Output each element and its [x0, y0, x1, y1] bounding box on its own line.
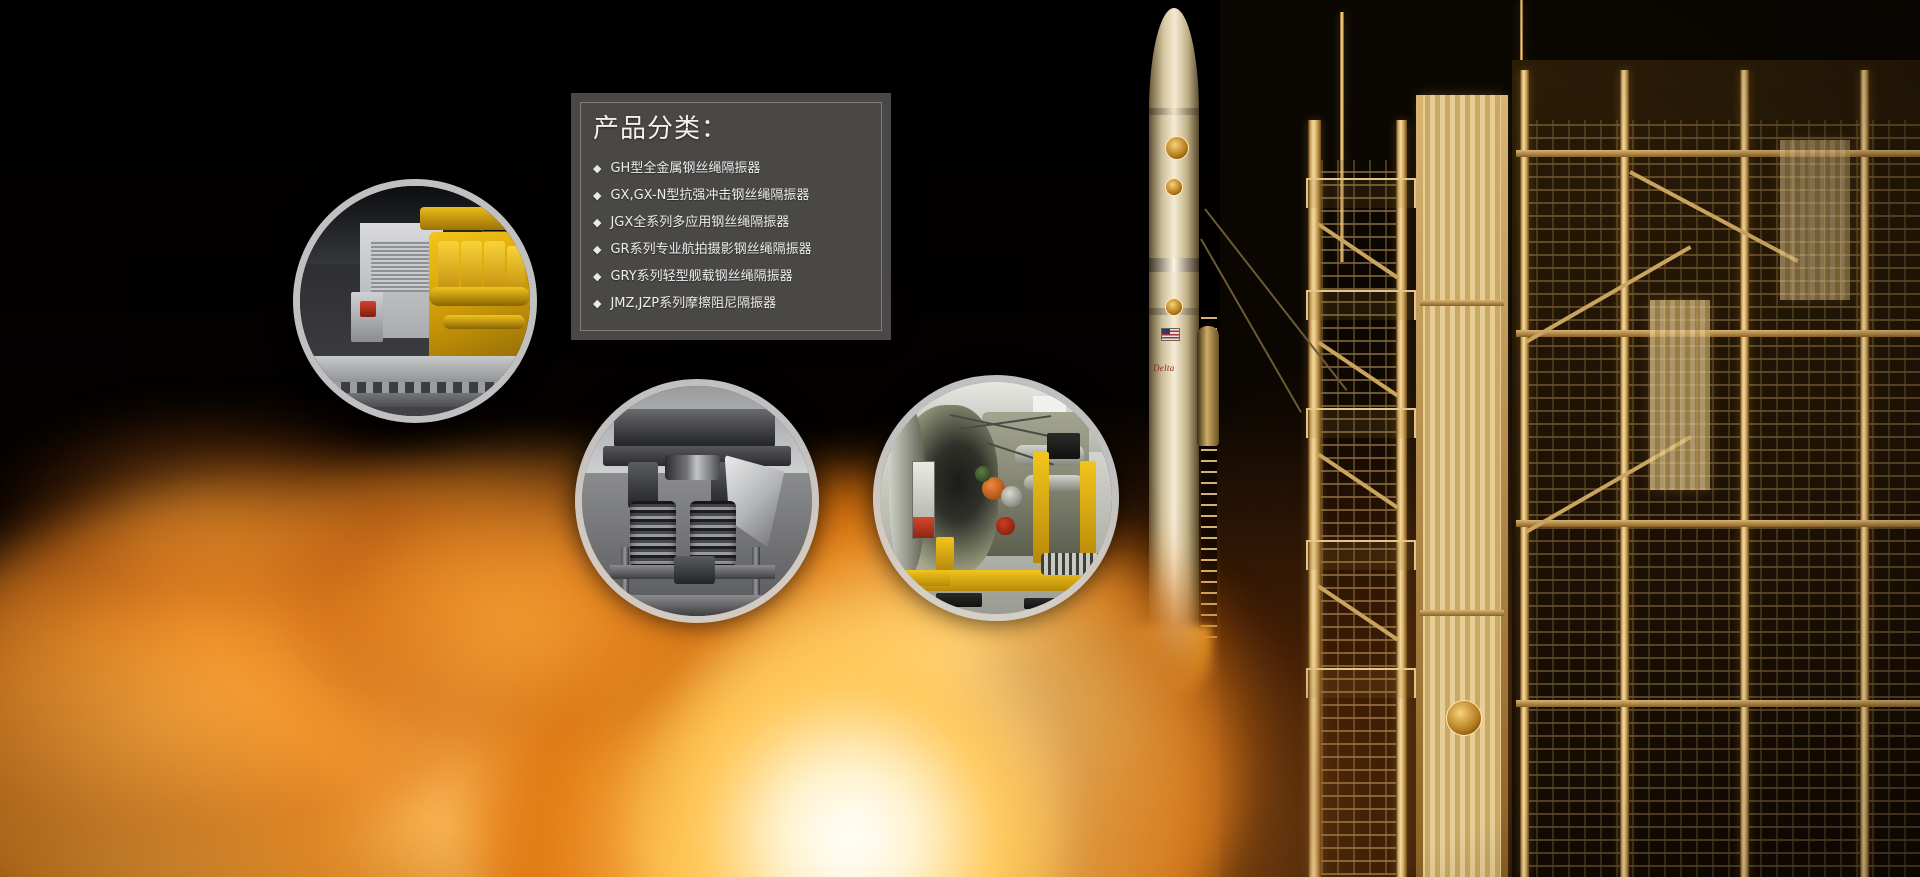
product-category-item[interactable]: ◆GR系列专业航拍摄影钢丝绳隔振器: [593, 243, 891, 256]
diamond-bullet-icon: ◆: [593, 244, 601, 255]
product-category-label: GH型全金属钢丝绳隔振器: [610, 162, 760, 175]
rocket-nose-cone: [1149, 8, 1199, 118]
product-category-label: GR系列专业航拍摄影钢丝绳隔振器: [610, 243, 811, 256]
diamond-bullet-icon: ◆: [593, 298, 601, 309]
diamond-bullet-icon: ◆: [593, 271, 601, 282]
product-category-item[interactable]: ◆JMZ,JZP系列摩擦阻尼隔振器: [593, 297, 891, 310]
diamond-bullet-icon: ◆: [593, 217, 601, 228]
diamond-bullet-icon: ◆: [593, 163, 601, 174]
product-category-panel: 产品分类： ◆GH型全金属钢丝绳隔振器◆GX,GX-N型抗强冲击钢丝绳隔振器◆J…: [571, 93, 891, 340]
product-category-item[interactable]: ◆GH型全金属钢丝绳隔振器: [593, 162, 891, 175]
product-category-item[interactable]: ◆JGX全系列多应用钢丝绳隔振器: [593, 216, 891, 229]
product-category-label: JMZ,JZP系列摩擦阻尼隔振器: [610, 297, 776, 310]
product-category-item[interactable]: ◆GRY系列轻型舰载钢丝绳隔振器: [593, 270, 891, 283]
photo-aircraft-jet-engine[interactable]: [873, 375, 1119, 621]
photo-diesel-generator-set[interactable]: [293, 179, 537, 423]
product-category-label: JGX全系列多应用钢丝绳隔振器: [610, 216, 789, 229]
diamond-bullet-icon: ◆: [593, 190, 601, 201]
product-category-label: GX,GX-N型抗强冲击钢丝绳隔振器: [610, 189, 809, 202]
photo-wire-rope-isolator-mount[interactable]: [575, 379, 819, 623]
product-category-list: ◆GH型全金属钢丝绳隔振器◆GX,GX-N型抗强冲击钢丝绳隔振器◆JGX全系列多…: [593, 162, 891, 310]
product-category-item[interactable]: ◆GX,GX-N型抗强冲击钢丝绳隔振器: [593, 189, 891, 202]
product-category-label: GRY系列轻型舰载钢丝绳隔振器: [610, 270, 792, 283]
page-title: 产品分类：: [593, 116, 891, 142]
product-category-banner: Delta: [0, 0, 1920, 877]
